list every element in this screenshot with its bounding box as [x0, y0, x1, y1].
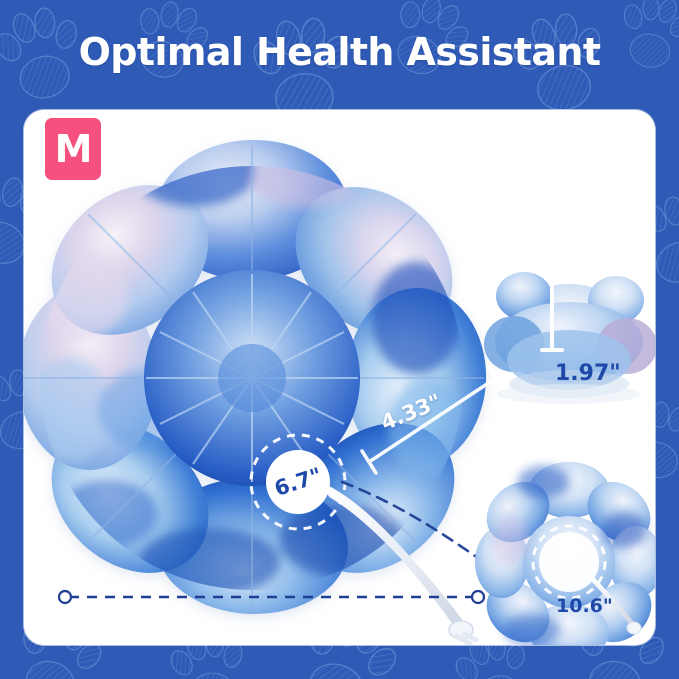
product-illustration [24, 110, 655, 645]
size-badge-label: M [55, 130, 92, 168]
size-badge: M [45, 118, 101, 180]
header-banner: Optimal Health Assistant [0, 0, 679, 104]
measurement-badge-center: 6.7" [266, 450, 330, 514]
measurement-label-center-diameter: 6.7" [271, 463, 324, 501]
inset-top-view-small [475, 462, 655, 645]
infographic-root: Optimal Health Assistant M [0, 0, 679, 679]
page-title: Optimal Health Assistant [79, 30, 601, 74]
inset-side-view [484, 272, 655, 404]
drawstring-knot [449, 621, 476, 644]
main-cushion [24, 137, 489, 618]
product-card: M [24, 110, 655, 645]
